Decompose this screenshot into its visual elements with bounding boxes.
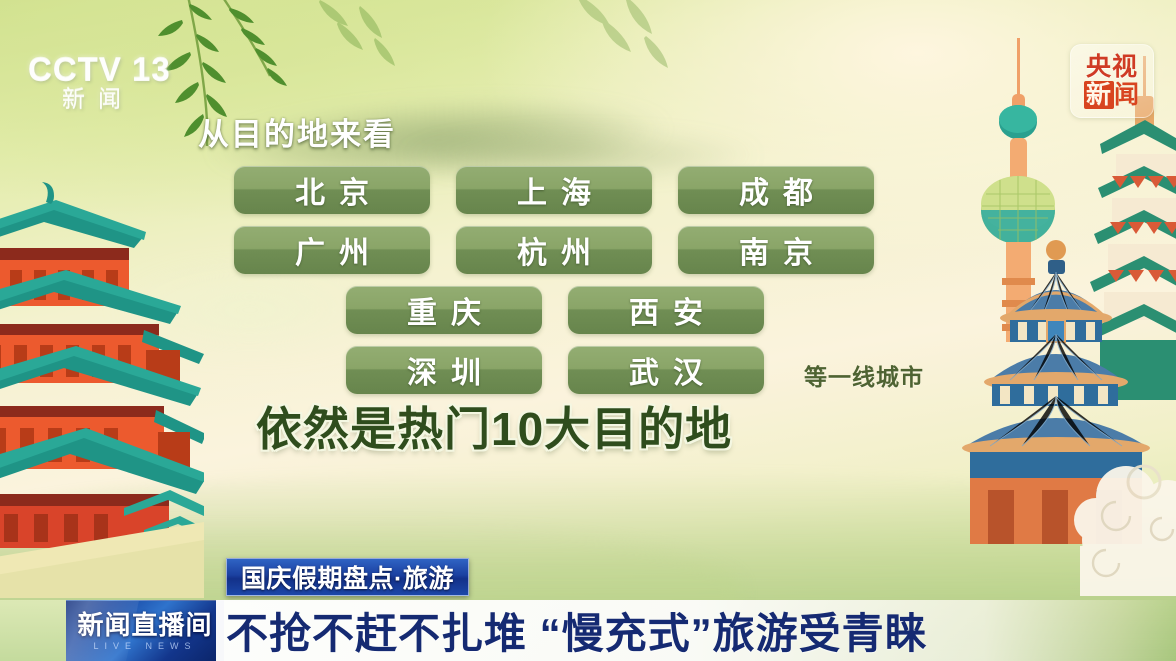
city-chip-chengdu[interactable]: 成都 <box>678 166 874 214</box>
city-chip-row-1: 北京 上海 成都 <box>198 166 978 214</box>
cctv-news-logo-line2: 新闻 <box>1084 82 1140 108</box>
city-chip-row-2: 广州 杭州 南京 <box>198 226 978 274</box>
cctv13-channel-bug: CCTV 13 新闻 <box>28 52 178 128</box>
city-chip-xian[interactable]: 西安 <box>568 286 764 334</box>
city-chip-wuhan[interactable]: 武汉 <box>568 346 764 394</box>
infographic-lead-in: 从目的地来看 <box>198 118 978 152</box>
city-chip-beijing[interactable]: 北京 <box>234 166 430 214</box>
destination-infographic: 从目的地来看 北京 上海 成都 广州 杭州 南京 重庆 西安 深圳 武汉 等一线… <box>198 118 978 452</box>
broadcast-screenshot: CCTV 13 新闻 央视 新闻 从目的地来看 北京 上海 成都 广州 杭州 南… <box>0 0 1176 661</box>
infographic-conclusion: 依然是热门10大目的地 <box>256 406 978 452</box>
headline-text: 不抢不赶不扎堆 “慢充式”旅游受青睐 <box>216 600 928 661</box>
cctv-news-logo-xin: 新 <box>1084 81 1114 109</box>
cctv13-bug-text: CCTV 13 <box>28 52 178 85</box>
willow-branch-secondary-icon <box>520 0 820 130</box>
lower-third-left-filler <box>0 600 66 661</box>
city-chip-nanjing[interactable]: 南京 <box>678 226 874 274</box>
city-chip-shenzhen[interactable]: 深圳 <box>346 346 542 394</box>
city-chip-guangzhou[interactable]: 广州 <box>234 226 430 274</box>
temple-of-heaven-icon <box>962 240 1150 544</box>
city-chip-shanghai[interactable]: 上海 <box>456 166 652 214</box>
city-chip-row-4: 深圳 武汉 等一线城市 <box>198 346 978 394</box>
topic-tag-label: 国庆假期盘点·旅游 <box>241 559 454 595</box>
cctv13-bug-subtext: 新闻 <box>28 87 178 110</box>
cctv-news-logo: 央视 新闻 <box>1070 44 1154 118</box>
cctv-news-logo-wen: 闻 <box>1114 81 1140 109</box>
oriental-pearl-tower-icon <box>981 38 1055 342</box>
program-name-english: LIVE NEWS <box>93 642 196 651</box>
auspicious-cloud-swirl-icon <box>1093 502 1173 576</box>
headline-banner: 不抢不赶不扎堆 “慢充式”旅游受青睐 <box>216 600 1176 661</box>
city-chip-chongqing[interactable]: 重庆 <box>346 286 542 334</box>
city-chip-row-3: 重庆 西安 <box>198 286 978 334</box>
pagoda-illustration-left <box>0 178 204 598</box>
cctv-news-logo-line1: 央视 <box>1086 54 1138 80</box>
trailing-note: 等一线城市 <box>804 358 924 394</box>
auspicious-cloud-icon <box>1074 466 1176 596</box>
topic-tag-banner: 国庆假期盘点·旅游 <box>226 558 469 596</box>
channel-program-badge: 新闻直播间 LIVE NEWS <box>66 600 224 661</box>
city-chip-hangzhou[interactable]: 杭州 <box>456 226 652 274</box>
program-name: 新闻直播间 <box>77 612 212 638</box>
